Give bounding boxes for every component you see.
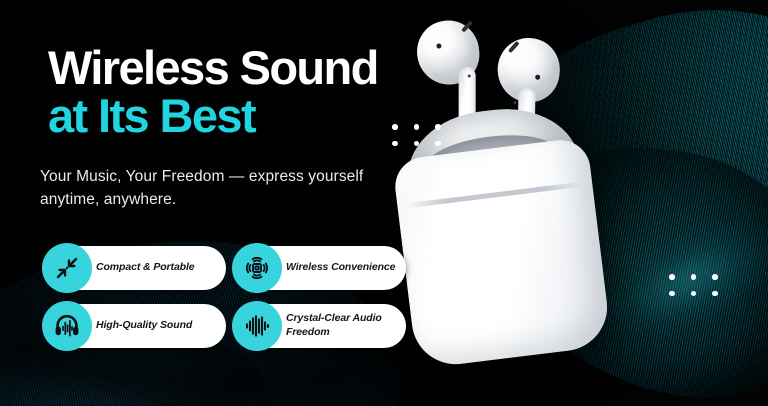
feature-pill-list: Compact & Portable <box>48 246 406 348</box>
dot <box>712 274 718 280</box>
feature-pill-compact-portable[interactable]: Compact & Portable <box>48 246 226 290</box>
dot <box>392 141 398 147</box>
dot <box>435 124 441 130</box>
feature-pill-label: Compact & Portable <box>96 261 195 275</box>
dot <box>414 124 420 130</box>
dot <box>669 291 675 297</box>
feature-pill-high-quality-sound[interactable]: High-Quality Sound <box>48 304 226 348</box>
feature-pill-label: Crystal-Clear Audio Freedom <box>286 312 406 340</box>
compress-arrows-icon <box>42 243 92 293</box>
dot <box>435 141 441 147</box>
earbud-right-mic-dot <box>513 101 516 104</box>
subtitle-text: Your Music, Your Freedom — express yours… <box>40 166 370 212</box>
page-title: Wireless Sound at Its Best <box>48 45 378 139</box>
audio-waveform-icon <box>232 301 282 351</box>
dot-grid-icon-headline <box>392 124 441 146</box>
headline-line-1: Wireless Sound <box>48 45 378 91</box>
feature-pill-label: Wireless Convenience <box>286 261 395 275</box>
feature-pill-wireless-convenience[interactable]: Wireless Convenience <box>238 246 406 290</box>
headphones-waveform-icon <box>42 301 92 351</box>
feature-pill-crystal-clear-audio[interactable]: Crystal-Clear Audio Freedom <box>238 304 406 348</box>
feature-pill-label: High-Quality Sound <box>96 319 192 333</box>
dot <box>669 274 675 280</box>
headline-line-2: at Its Best <box>48 93 378 139</box>
dot <box>691 291 697 297</box>
content-column: Wireless Sound at Its Best Your Music, Y… <box>0 0 460 406</box>
wireless-signal-icon <box>232 243 282 293</box>
dot <box>392 124 398 130</box>
dot <box>712 291 718 297</box>
dot-grid-icon-right <box>669 274 718 296</box>
dot <box>414 141 420 147</box>
dot <box>691 274 697 280</box>
hero-banner: Wireless Sound at Its Best Your Music, Y… <box>0 0 768 406</box>
